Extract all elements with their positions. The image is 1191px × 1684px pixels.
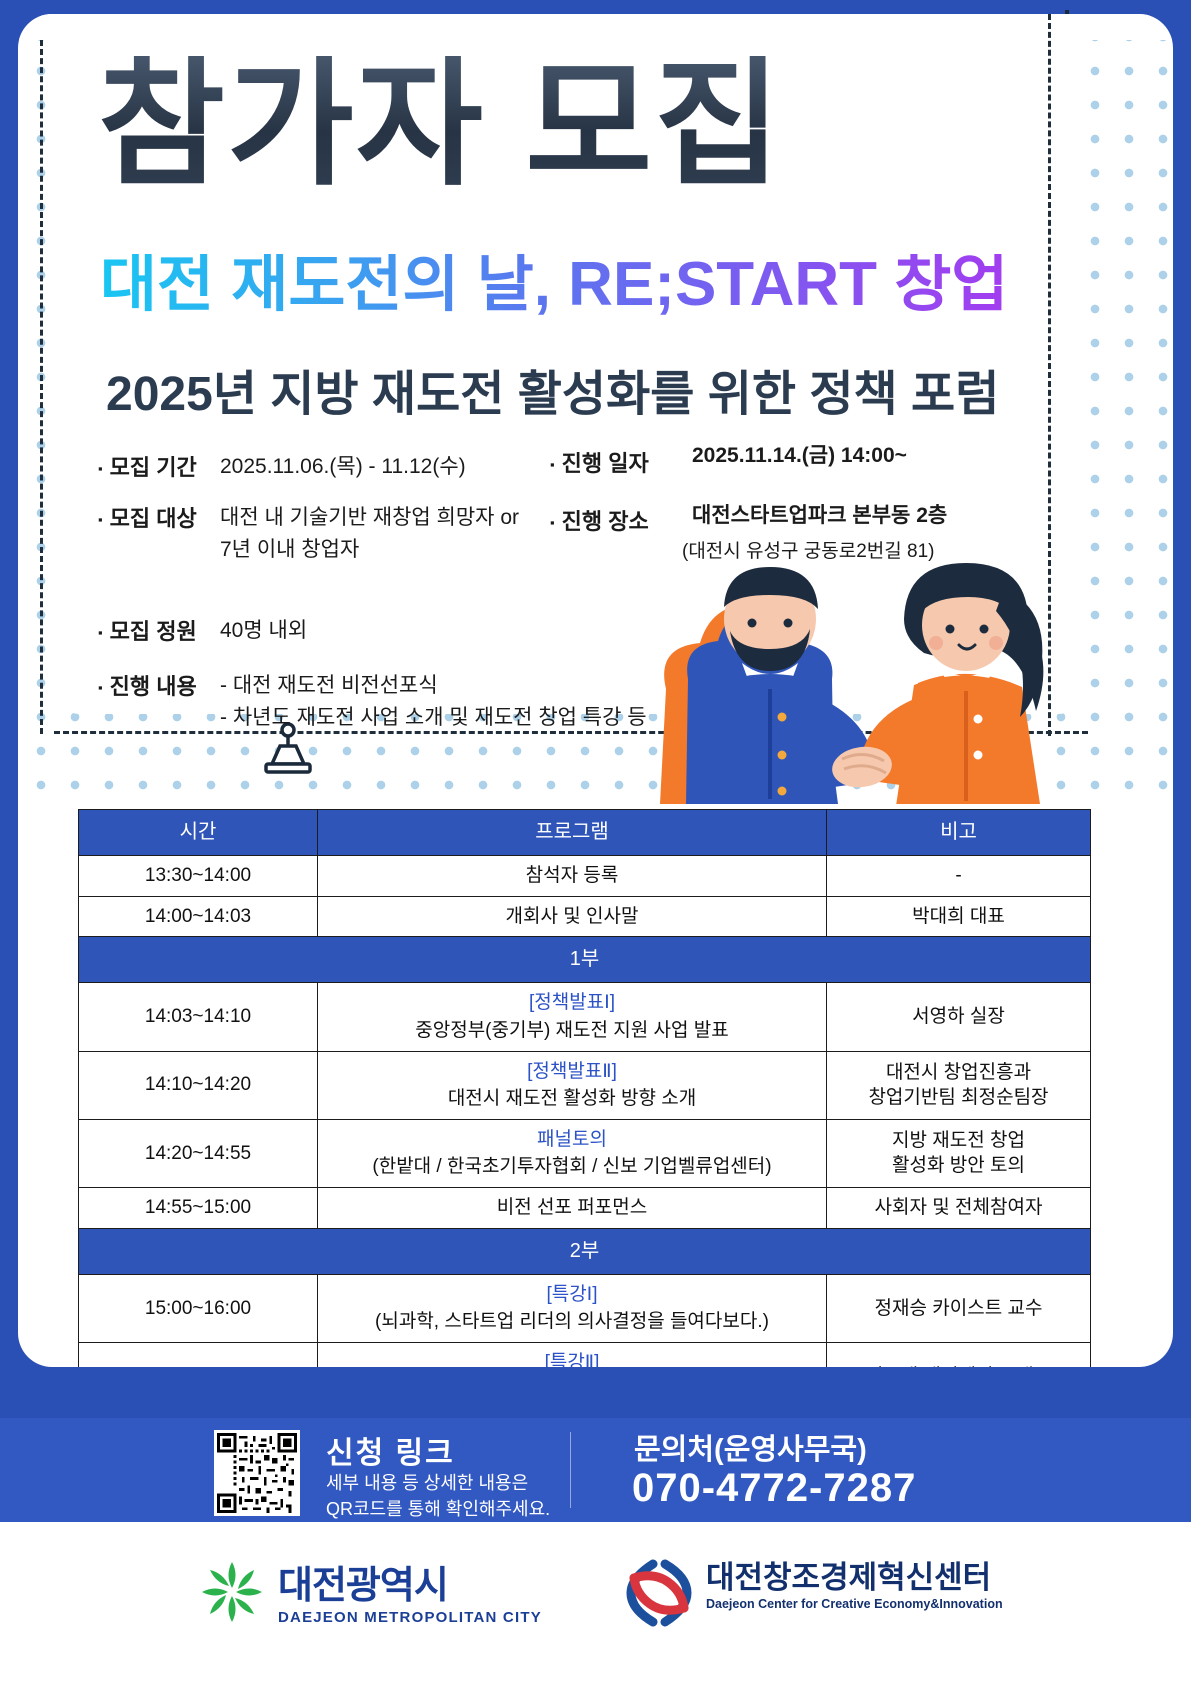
col-header-time: 시간 <box>79 810 318 856</box>
program-title: [정책발표Ⅰ] <box>322 990 822 1016</box>
info-value: - 대전 재도전 비전선포식 - 차년도 재도전 사업 소개 및 재도전 창업 … <box>220 670 647 733</box>
daejeon-logo-en: DAEJEON METROPOLITAN CITY <box>278 1609 542 1626</box>
cell-time: 15:00~16:00 <box>79 1274 318 1342</box>
table-row: 14:20~14:55 패널토의 (한밭대 / 한국초기투자협회 / 신보 기업… <box>79 1119 1091 1187</box>
dashed-border-left <box>40 40 43 734</box>
cell-time: 14:00~14:03 <box>79 896 318 937</box>
info-value: 대전 내 기술기반 재창업 희망자 or 7년 이내 창업자 <box>220 502 519 565</box>
apply-desc-line-2: QR코드를 통해 확인해주세요. <box>326 1496 550 1522</box>
info-label: 진행 일자 <box>550 446 649 478</box>
info-value: 2025.11.06.(목) - 11.12(수) <box>220 451 466 483</box>
cell-note: 사회자 및 전체참여자 <box>827 1188 1091 1229</box>
cell-program: 참석자 등록 <box>318 856 827 897</box>
table-row: 14:10~14:20 [정책발표Ⅱ] 대전시 재도전 활성화 방향 소개 대전… <box>79 1051 1091 1119</box>
cell-time: 14:10~14:20 <box>79 1051 318 1119</box>
page-subtitle: 대전 재도전의 날, RE;START 창업 <box>100 254 1008 316</box>
cell-note: 임준택 캔디데이트 대표 <box>827 1343 1091 1367</box>
handshake-illustration <box>618 559 1078 804</box>
logo-band: 대전광역시 DAEJEON METROPOLITAN CITY 대전창조경제혁신… <box>0 1522 1191 1684</box>
cell-program: [특강Ⅰ] (뇌과학, 스타트업 리더의 의사결정을 들여다보다.) <box>318 1274 827 1342</box>
ccei-logo-en: Daejeon Center for Creative Economy&Inno… <box>706 1597 1003 1611</box>
cell-program: [정책발표Ⅱ] 대전시 재도전 활성화 방향 소개 <box>318 1051 827 1119</box>
daejeon-city-logo: 대전광역시 DAEJEON METROPOLITAN CITY <box>196 1554 542 1628</box>
cell-time: 14:55~15:00 <box>79 1188 318 1229</box>
col-header-program: 프로그램 <box>318 810 827 856</box>
cell-time: 14:20~14:55 <box>79 1119 318 1187</box>
program-sub: (한밭대 / 한국초기투자협회 / 신보 기업벨류업센터) <box>322 1154 822 1180</box>
program-table-wrap: 시간 프로그램 비고 13:30~14:00 참석자 등록 - 14:00~14… <box>78 809 1063 1367</box>
poster-root: 참가자 모집 대전 재도전의 날, RE;START 창업 2025년 지방 재… <box>0 0 1191 1684</box>
program-table: 시간 프로그램 비고 13:30~14:00 참석자 등록 - 14:00~14… <box>78 809 1091 1367</box>
info-label: 진행 내용 <box>98 669 197 701</box>
page-title: 참가자 모집 <box>98 56 783 194</box>
section-label-part2: 2부 <box>79 1228 1091 1274</box>
info-value: 40명 내외 <box>220 615 307 647</box>
page-tagline: 2025년 지방 재도전 활성화를 위한 정책 포럼 <box>106 354 999 424</box>
table-row: 14:55~15:00 비전 선포 퍼포먼스 사회자 및 전체참여자 <box>79 1188 1091 1229</box>
info-label: 모집 대상 <box>98 501 197 533</box>
cell-note: 정재승 카이스트 교수 <box>827 1274 1091 1342</box>
table-header-row: 시간 프로그램 비고 <box>79 810 1091 856</box>
cell-program: 개회사 및 인사말 <box>318 896 827 937</box>
col-header-note: 비고 <box>827 810 1091 856</box>
cell-note: 서영하 실장 <box>827 983 1091 1051</box>
table-row: 14:03~14:10 [정책발표Ⅰ] 중앙정부(중기부) 재도전 지원 사업 … <box>79 983 1091 1051</box>
cell-time: 13:30~14:00 <box>79 856 318 897</box>
section-label-part1: 1부 <box>79 937 1091 983</box>
ccei-logo-kr: 대전창조경제혁신센터 <box>706 1552 1003 1597</box>
program-title: [정책발표Ⅱ] <box>322 1059 822 1085</box>
contact-title: 문의처(운영사무국) <box>634 1426 867 1468</box>
table-row: 14:00~14:03 개회사 및 인사말 박대희 대표 <box>79 896 1091 937</box>
footer-divider <box>570 1432 571 1508</box>
ccei-logo: 대전창조경제혁신센터 Daejeon Center for Creative E… <box>622 1552 1003 1630</box>
cell-time: 16:00~17:00 <box>79 1343 318 1367</box>
main-card: 참가자 모집 대전 재도전의 날, RE;START 창업 2025년 지방 재… <box>18 14 1173 1367</box>
program-sub: (뇌과학, 스타트업 리더의 의사결정을 들여다보다.) <box>322 1309 822 1335</box>
apply-link-title: 신청 링크 <box>326 1428 455 1472</box>
program-title: [특강Ⅰ] <box>322 1282 822 1308</box>
info-value: 2025.11.14.(금) 14:00~ <box>692 440 907 472</box>
table-section-row: 1부 <box>79 937 1091 983</box>
cell-program: [정책발표Ⅰ] 중앙정부(중기부) 재도전 지원 사업 발표 <box>318 983 827 1051</box>
program-sub: 중앙정부(중기부) 재도전 지원 사업 발표 <box>322 1018 822 1044</box>
program-sub: 대전시 재도전 활성화 방향 소개 <box>322 1086 822 1112</box>
cell-time: 14:03~14:10 <box>79 983 318 1051</box>
footer-band: 신청 링크 세부 내용 등 상세한 내용은 QR코드를 통해 확인해주세요. 문… <box>0 1418 1191 1522</box>
table-row: 16:00~17:00 [특강Ⅱ] (AI 시대 생존을 위한 재도전 그리고 … <box>79 1343 1091 1367</box>
program-title: 패널토의 <box>322 1127 822 1153</box>
table-section-row: 2부 <box>79 1228 1091 1274</box>
info-label: 모집 기간 <box>98 450 197 482</box>
cell-program: 비전 선포 퍼포먼스 <box>318 1188 827 1229</box>
contact-phone[interactable]: 070-4772-7287 <box>632 1466 916 1511</box>
table-row: 15:00~16:00 [특강Ⅰ] (뇌과학, 스타트업 리더의 의사결정을 들… <box>79 1274 1091 1342</box>
cell-note: 지방 재도전 창업 활성화 방안 토의 <box>827 1119 1091 1187</box>
daejeon-flower-icon <box>196 1556 268 1628</box>
info-label: 모집 정원 <box>98 614 197 646</box>
cell-note: 박대희 대표 <box>827 896 1091 937</box>
program-title: [특강Ⅱ] <box>322 1350 822 1367</box>
table-row: 13:30~14:00 참석자 등록 - <box>79 856 1091 897</box>
footer-content: 신청 링크 세부 내용 등 상세한 내용은 QR코드를 통해 확인해주세요. 문… <box>0 1418 1191 1522</box>
cell-note: 대전시 창업진흥과 창업기반팀 최정순팀장 <box>827 1051 1091 1119</box>
qr-code[interactable] <box>214 1430 300 1516</box>
info-value: 대전스타트업파크 본부동 2층 <box>692 500 947 532</box>
info-label: 진행 장소 <box>550 504 649 536</box>
cell-program: 패널토의 (한밭대 / 한국초기투자협회 / 신보 기업벨류업센터) <box>318 1119 827 1187</box>
daejeon-logo-kr: 대전광역시 <box>278 1554 542 1609</box>
apply-link-desc: 세부 내용 등 상세한 내용은 QR코드를 통해 확인해주세요. <box>326 1470 550 1522</box>
cell-program: [특강Ⅱ] (AI 시대 생존을 위한 재도전 그리고 피벗 아이템) <box>318 1343 827 1367</box>
cell-note: - <box>827 856 1091 897</box>
ccei-symbol-icon <box>622 1556 696 1630</box>
apply-desc-line-1: 세부 내용 등 상세한 내용은 <box>326 1470 550 1496</box>
table-body: 13:30~14:00 참석자 등록 - 14:00~14:03 개회사 및 인… <box>79 856 1091 1368</box>
